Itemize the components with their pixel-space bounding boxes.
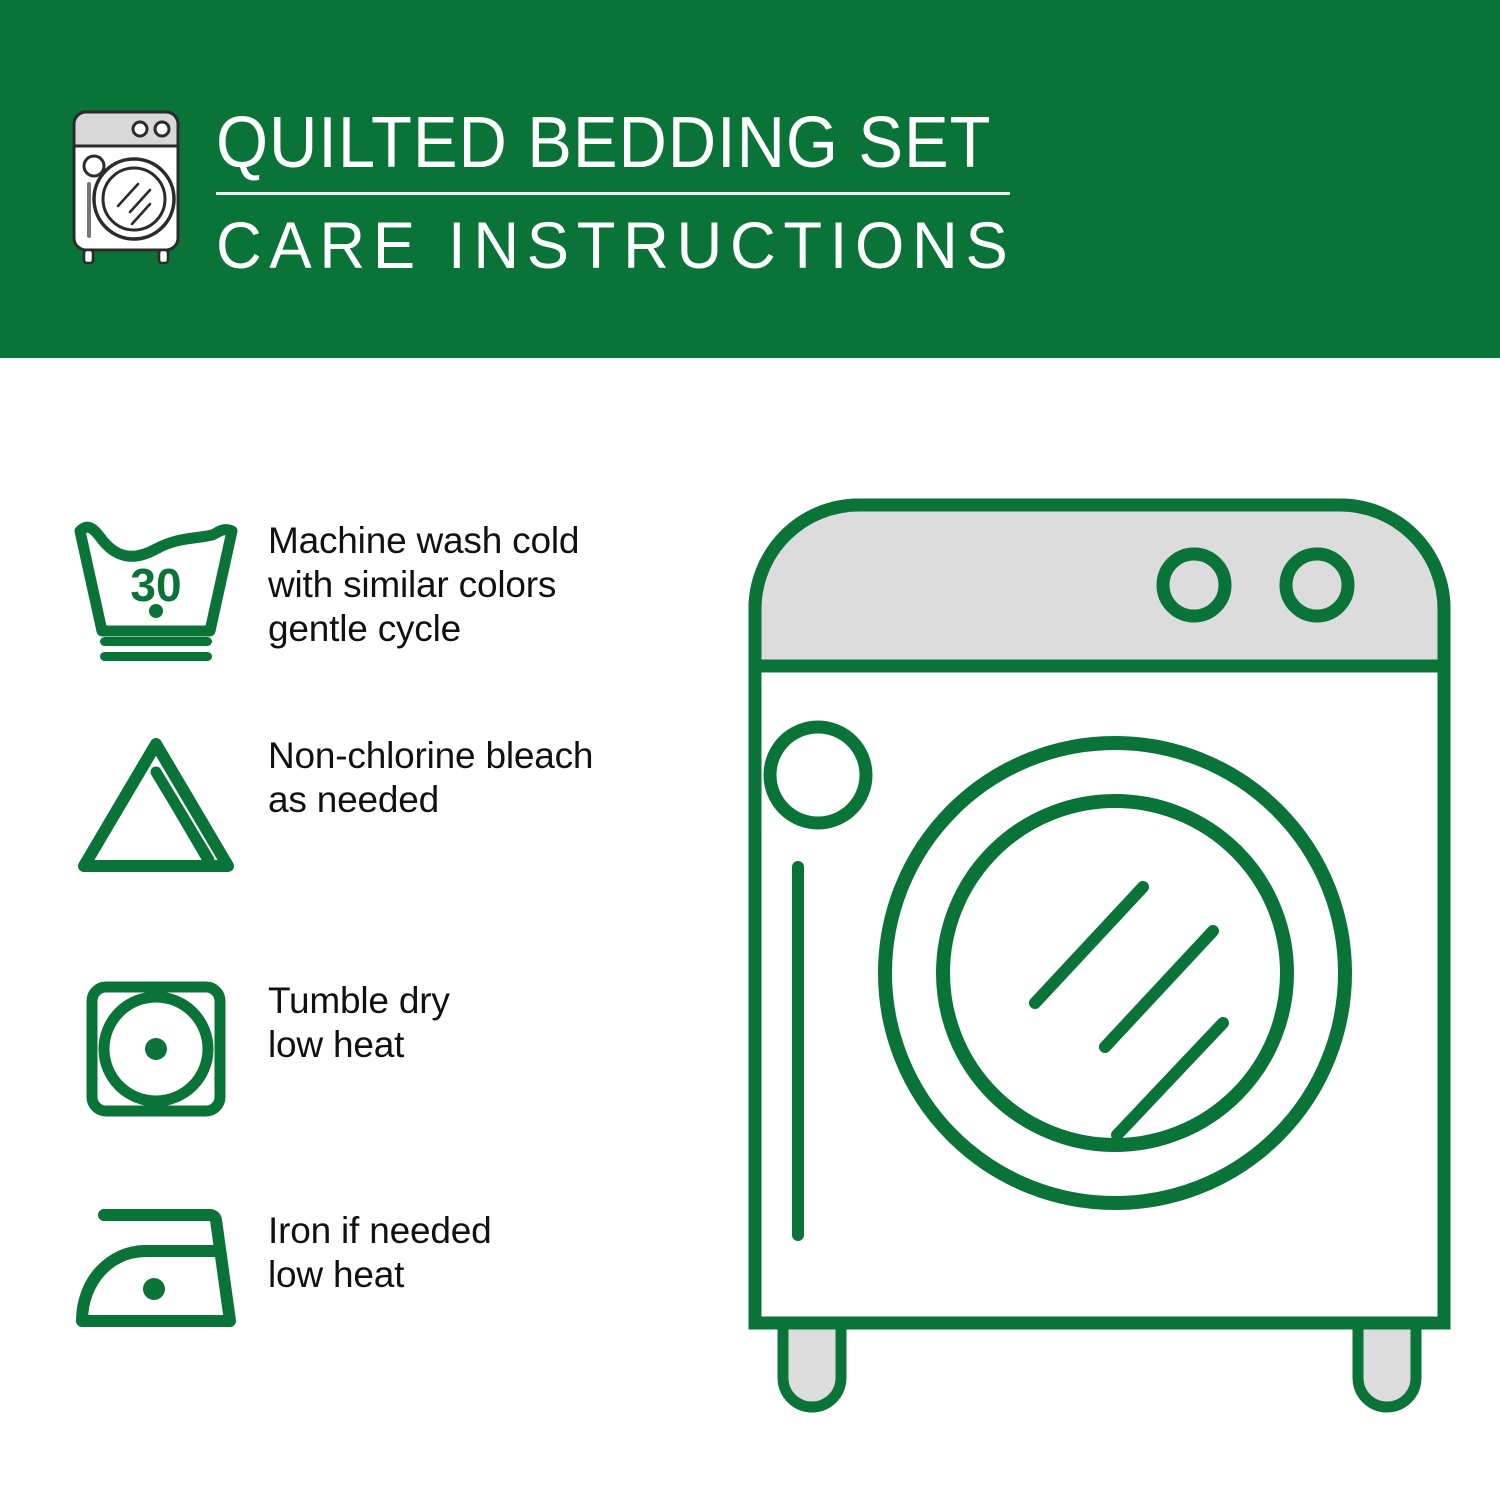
page-header: QUILTED BEDDING SET CARE INSTRUCTIONS bbox=[0, 0, 1500, 358]
care-line: low heat bbox=[268, 1023, 450, 1067]
care-row-label-machine-wash: Machine wash cold with similar colors ge… bbox=[250, 513, 579, 651]
iron-svg bbox=[70, 1203, 242, 1333]
title-divider bbox=[216, 192, 1010, 195]
washing-machine-illustration bbox=[745, 495, 1460, 1420]
tumble-dry-low-heat-icon bbox=[70, 973, 250, 1123]
care-line: low heat bbox=[268, 1253, 491, 1297]
page-subtitle: CARE INSTRUCTIONS bbox=[216, 209, 984, 281]
care-row-machine-wash: 30 Machine wash cold with similar colors… bbox=[70, 513, 730, 663]
machine-leg-right bbox=[1358, 1320, 1416, 1407]
care-line: as needed bbox=[268, 778, 593, 822]
care-instructions-list: 30 Machine wash cold with similar colors… bbox=[0, 358, 740, 1500]
wash-tub-30-gentle-icon: 30 bbox=[70, 513, 250, 663]
care-instructions-page: QUILTED BEDDING SET CARE INSTRUCTIONS 30 bbox=[0, 0, 1500, 1500]
care-row-label-tumble-dry: Tumble dry low heat bbox=[250, 973, 450, 1067]
bleach-triangle-svg bbox=[70, 728, 242, 878]
care-line: Machine wash cold bbox=[268, 519, 579, 563]
care-row-tumble-dry: Tumble dry low heat bbox=[70, 973, 730, 1123]
iron-low-heat-icon bbox=[70, 1203, 250, 1333]
control-knob-2[interactable] bbox=[1286, 554, 1348, 616]
care-line: with similar colors bbox=[268, 563, 579, 607]
machine-door-inner-ring bbox=[943, 801, 1287, 1145]
wash-tub-svg: 30 bbox=[70, 513, 242, 663]
care-line: Tumble dry bbox=[268, 979, 450, 1023]
header-washing-machine-icon bbox=[62, 104, 192, 264]
svg-text:30: 30 bbox=[130, 559, 181, 611]
header-text-block: QUILTED BEDDING SET CARE INSTRUCTIONS bbox=[216, 104, 1016, 281]
washing-machine-logo-svg bbox=[62, 104, 192, 264]
care-line: gentle cycle bbox=[268, 607, 579, 651]
care-line: Non-chlorine bleach bbox=[268, 734, 593, 778]
tumble-dry-svg bbox=[70, 973, 242, 1123]
machine-leg-left bbox=[783, 1320, 841, 1407]
control-knob-1[interactable] bbox=[1163, 554, 1225, 616]
page-title: QUILTED BEDDING SET bbox=[216, 104, 960, 182]
care-line: Iron if needed bbox=[268, 1209, 491, 1253]
care-row-label-bleach: Non-chlorine bleach as needed bbox=[250, 728, 593, 822]
care-row-iron: Iron if needed low heat bbox=[70, 1203, 730, 1333]
care-row-bleach: Non-chlorine bleach as needed bbox=[70, 728, 730, 878]
detergent-indicator-icon bbox=[770, 727, 866, 823]
triangle-non-chlorine-bleach-icon bbox=[70, 728, 250, 878]
washing-machine-svg bbox=[745, 495, 1460, 1420]
machine-legs bbox=[783, 1320, 1416, 1407]
care-row-label-iron: Iron if needed low heat bbox=[250, 1203, 491, 1297]
